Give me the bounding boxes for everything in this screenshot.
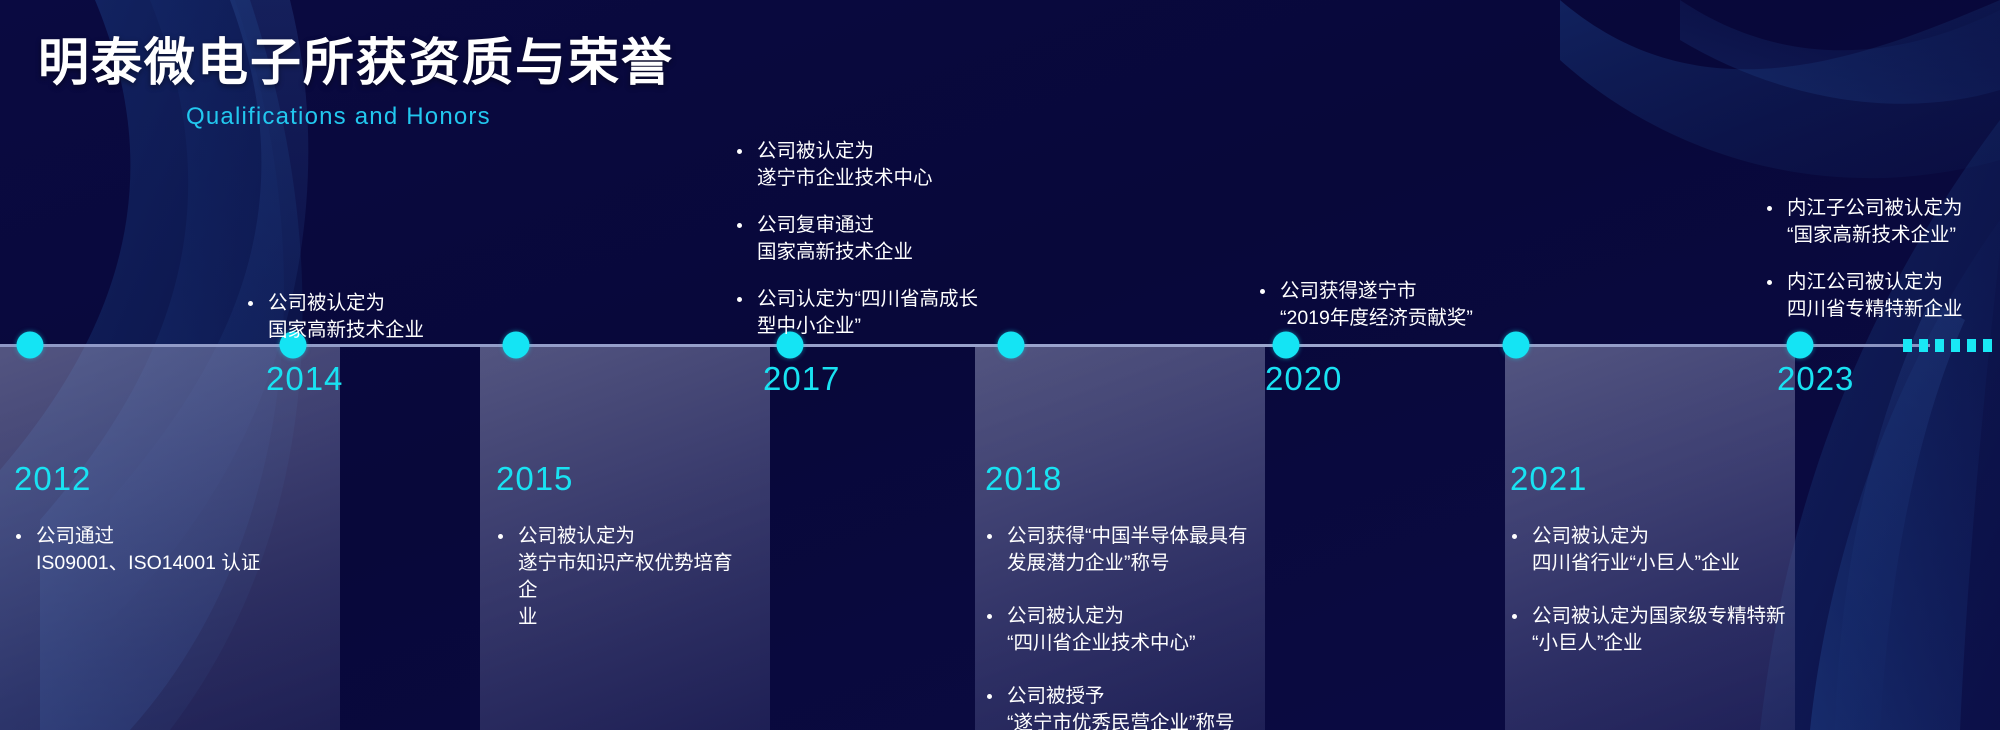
year-label-2021: 2021 [1510, 462, 1820, 495]
timeline-event-2023: 内江子公司被认定为 “国家高新技术企业” 内江公司被认定为 四川省专精特新企业 [1765, 195, 1963, 323]
list-item: 公司被认定为 遂宁市企业技术中心 [735, 138, 978, 192]
page-subtitle: Qualifications and Honors [186, 103, 674, 131]
list-item: 公司复审通过 国家高新技术企业 [735, 212, 978, 266]
list-item: 公司通过 IS09001、ISO14001 认证 [14, 523, 260, 577]
timeline-dot-2012[interactable] [17, 332, 44, 359]
year-label-2023: 2023 [1777, 362, 1854, 395]
year-label-2017: 2017 [763, 362, 840, 395]
list-item: 内江子公司被认定为 “国家高新技术企业” [1765, 195, 1963, 249]
list-item: 公司获得“中国半导体最具有 发展潜力企业”称号 [985, 523, 1275, 577]
list-item: 公司被认定为 遂宁市知识产权优势培育企 业 [496, 523, 751, 631]
timeline-event-2020: 公司获得遂宁市 “2019年度经济贡献奖” [1258, 278, 1473, 332]
bullet-list-2012: 公司通过 IS09001、ISO14001 认证 [14, 523, 260, 577]
bullet-list-2018: 公司获得“中国半导体最具有 发展潜力企业”称号 公司被认定为 “四川省企业技术中… [985, 523, 1275, 730]
timeline-dot-2021[interactable] [1503, 332, 1530, 359]
bullet-list-2023: 内江子公司被认定为 “国家高新技术企业” 内江公司被认定为 四川省专精特新企业 [1765, 195, 1963, 323]
timeline-event-2018: 2018 公司获得“中国半导体最具有 发展潜力企业”称号 公司被认定为 “四川省… [985, 462, 1275, 730]
list-item: 公司被认定为 “四川省企业技术中心” [985, 603, 1275, 657]
timeline-event-2012: 2012 公司通过 IS09001、ISO14001 认证 [14, 462, 260, 603]
year-label-2012: 2012 [14, 462, 260, 495]
timeline-dot-2015[interactable] [503, 332, 530, 359]
slide-canvas: 明泰微电子所获资质与荣誉 Qualifications and Honors 公… [0, 0, 2000, 730]
timeline-event-2017: 公司被认定为 遂宁市企业技术中心 公司复审通过 国家高新技术企业 公司认定为“四… [735, 138, 978, 339]
timeline-dot-2020[interactable] [1273, 332, 1300, 359]
bullet-list-2020: 公司获得遂宁市 “2019年度经济贡献奖” [1258, 278, 1473, 332]
bullet-list-2017: 公司被认定为 遂宁市企业技术中心 公司复审通过 国家高新技术企业 公司认定为“四… [735, 138, 978, 339]
year-label-2020: 2020 [1265, 362, 1342, 395]
bullet-list-2014: 公司被认定为 国家高新技术企业 [246, 290, 424, 344]
list-item: 公司被授予 “遂宁市优秀民营企业”称号 [985, 683, 1275, 730]
list-item: 公司被认定为 四川省行业“小巨人”企业 [1510, 523, 1820, 577]
title-block: 明泰微电子所获资质与荣誉 Qualifications and Honors [38, 34, 674, 131]
timeline-dot-2023[interactable] [1787, 332, 1814, 359]
list-item: 公司被认定为国家级专精特新 “小巨人”企业 [1510, 603, 1820, 657]
year-label-2015: 2015 [496, 462, 751, 495]
year-label-2014: 2014 [266, 362, 343, 395]
year-label-2018: 2018 [985, 462, 1275, 495]
timeline-axis-dashes [1903, 339, 1992, 352]
bullet-list-2015: 公司被认定为 遂宁市知识产权优势培育企 业 [496, 523, 751, 631]
page-title: 明泰微电子所获资质与荣誉 [38, 34, 674, 93]
timeline-event-2015: 2015 公司被认定为 遂宁市知识产权优势培育企 业 [496, 462, 751, 657]
timeline-dot-2018[interactable] [998, 332, 1025, 359]
list-item: 公司被认定为 国家高新技术企业 [246, 290, 424, 344]
bullet-list-2021: 公司被认定为 四川省行业“小巨人”企业 公司被认定为国家级专精特新 “小巨人”企… [1510, 523, 1820, 657]
timeline-event-2021: 2021 公司被认定为 四川省行业“小巨人”企业 公司被认定为国家级专精特新 “… [1510, 462, 1820, 683]
timeline-event-2014: 公司被认定为 国家高新技术企业 [246, 290, 424, 344]
list-item: 内江公司被认定为 四川省专精特新企业 [1765, 269, 1963, 323]
list-item: 公司认定为“四川省高成长 型中小企业” [735, 286, 978, 340]
list-item: 公司获得遂宁市 “2019年度经济贡献奖” [1258, 278, 1473, 332]
